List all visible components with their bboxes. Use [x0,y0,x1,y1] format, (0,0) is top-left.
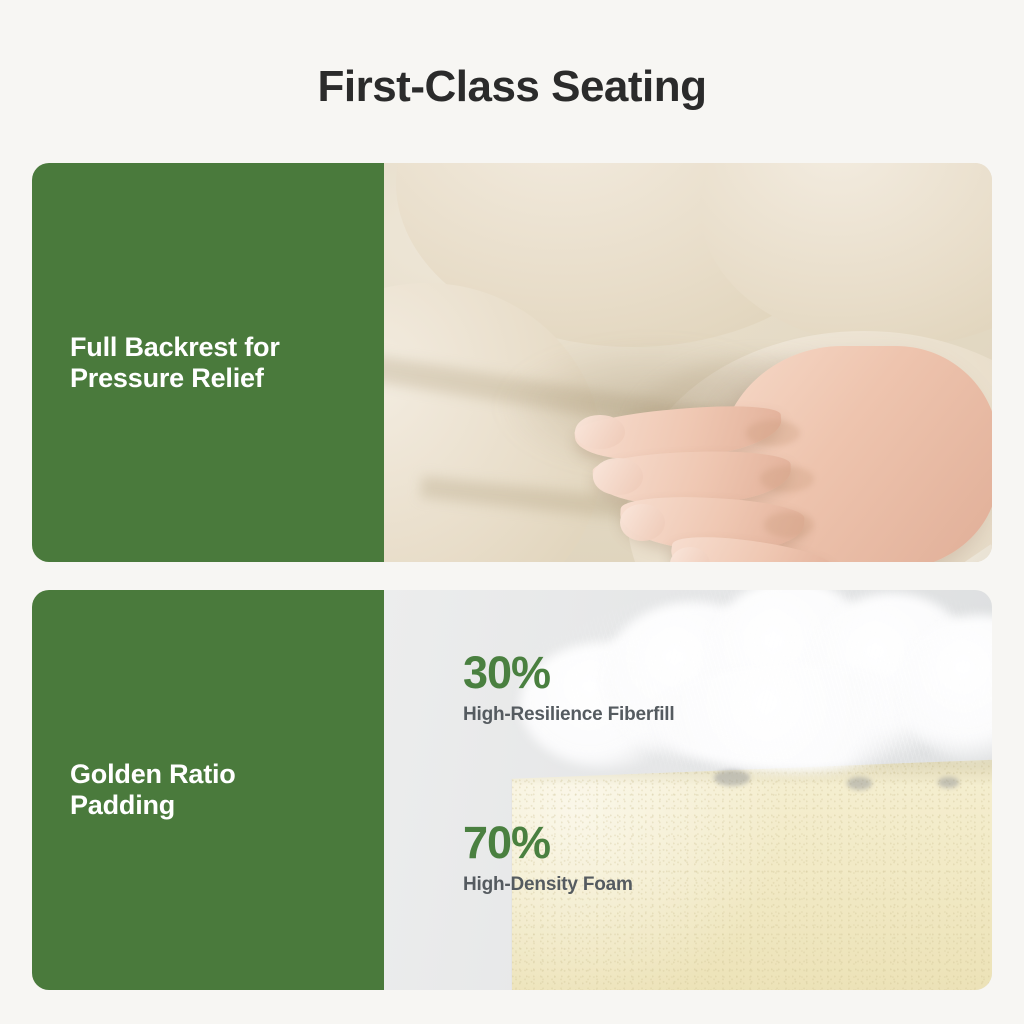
card-label-panel-padding: Golden Ratio Padding [32,590,384,990]
feature-card-padding: Golden Ratio Padding 30% H [32,590,992,990]
stat-fiberfill: 30% High-Resilience Fiberfill [463,650,674,726]
hand-fingernail [575,415,624,449]
card-visual-cushion [384,163,992,562]
card-label-padding: Golden Ratio Padding [32,759,254,821]
fiberfill-speck [847,777,873,790]
fiberfill-speck [714,770,750,786]
hand-knuckle [764,512,813,538]
cushion-photo [384,163,992,562]
page-title: First-Class Seating [0,63,1024,111]
card-label-backrest: Full Backrest for Pressure Relief [32,332,298,394]
card-label-panel-backrest: Full Backrest for Pressure Relief [32,163,384,562]
stat-foam: 70% High-Density Foam [463,820,633,896]
padding-cross-section: 30% High-Resilience Fiberfill 70% High-D… [384,590,992,990]
hand-knuckle [760,466,814,492]
hand-fingernail [593,458,642,495]
feature-card-backrest: Full Backrest for Pressure Relief [32,163,992,562]
hand-fingernail [620,504,665,541]
hand-illustration [566,323,992,562]
stat-fiberfill-label: High-Resilience Fiberfill [463,704,674,726]
stat-foam-label: High-Density Foam [463,874,633,896]
fiberfill-speck [938,777,958,788]
stat-fiberfill-value: 30% [463,650,674,695]
stat-foam-value: 70% [463,820,633,865]
card-visual-padding-diagram: 30% High-Resilience Fiberfill 70% High-D… [384,590,992,990]
